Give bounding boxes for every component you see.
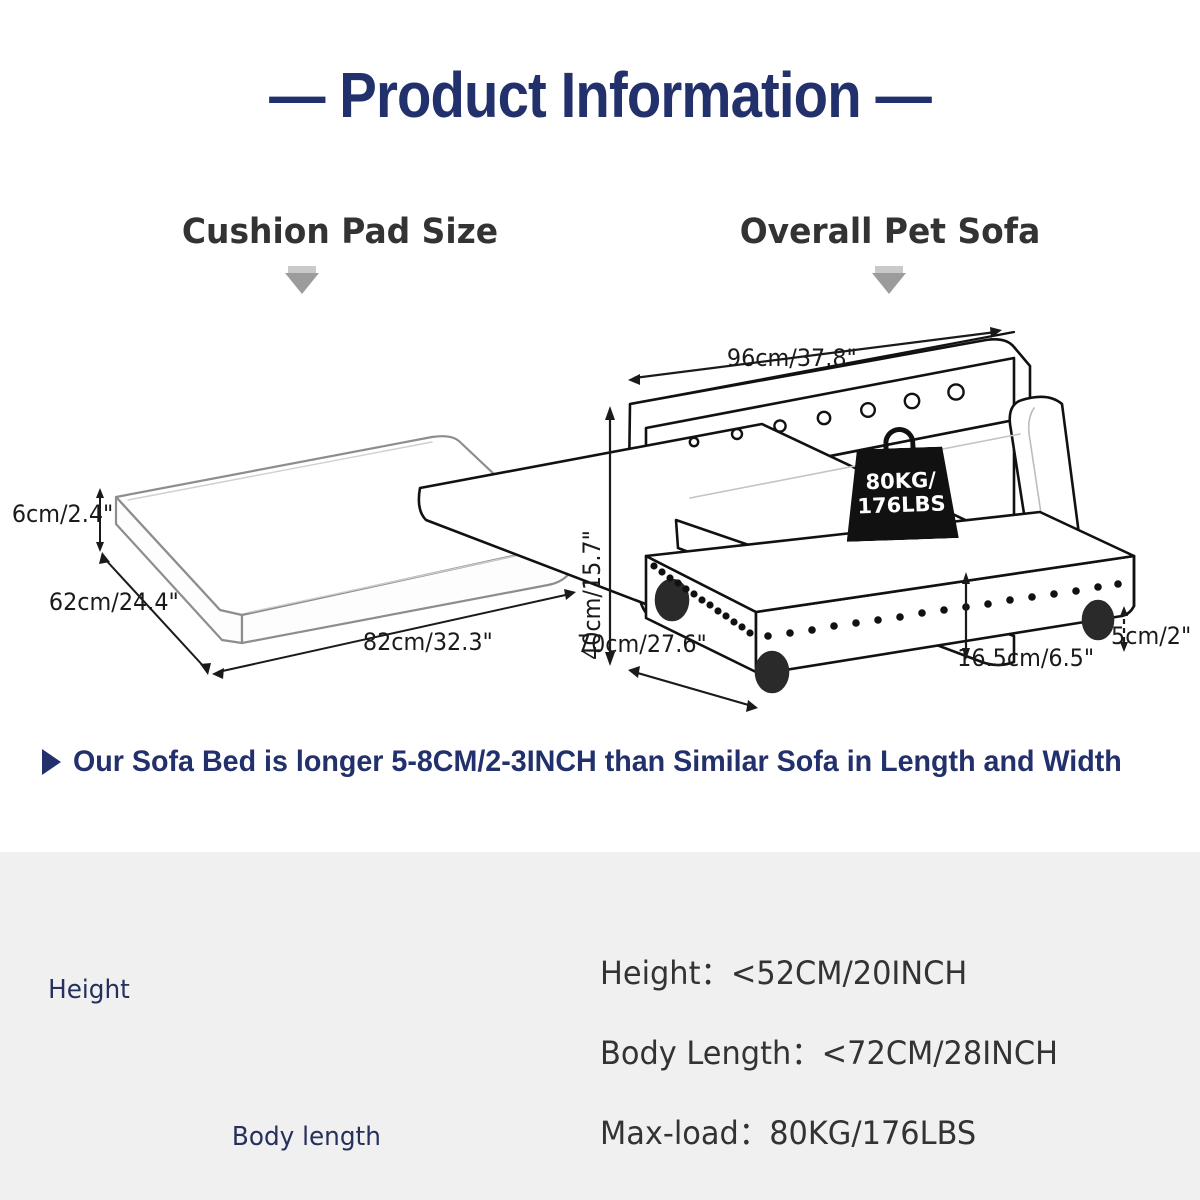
- cushion-depth-label: 62cm/24.4": [49, 588, 179, 616]
- spec-height: Height：<52CM/20INCH: [600, 948, 1132, 994]
- play-triangle-icon: [42, 749, 61, 775]
- pet-sofa-illustration: [419, 332, 1134, 692]
- sofa-width-label: 96cm/37.8": [727, 344, 857, 372]
- sofa-leg-height-label: 5cm/2": [1111, 622, 1191, 650]
- cushion-width-label: 82cm/32.3": [363, 628, 493, 656]
- sofa-base-clearance-label: 16.5cm/6.5": [957, 644, 1094, 672]
- dog-body-length-label: Body length: [232, 1122, 381, 1152]
- page-title: — Product Information —: [72, 58, 1128, 132]
- section-heading-sofa: Overall Pet Sofa: [655, 212, 1125, 252]
- weight-handle: [883, 426, 916, 449]
- chevron-down-icon-cushion: [285, 266, 319, 294]
- pet-spec-list: Height：<52CM/20INCH Body Length：<72CM/28…: [600, 948, 1160, 1188]
- nailhead-studs: [650, 562, 1121, 639]
- weight-line-2: 176LBS: [857, 492, 946, 519]
- section-heading-cushion: Cushion Pad Size: [77, 212, 603, 252]
- cushion-dimension-lines: [96, 488, 576, 679]
- chevron-down-icon-sofa: [872, 266, 906, 294]
- spec-max-load: Max-load：80KG/176LBS: [600, 1108, 1132, 1154]
- backrest-buttons: [690, 384, 964, 446]
- weight-label: 80KG/ 176LBS: [844, 446, 959, 542]
- highlight-banner-text: Our Sofa Bed is longer 5-8CM/2-3INCH tha…: [73, 745, 1122, 779]
- spec-body-length: Body Length：<72CM/28INCH: [600, 1028, 1132, 1074]
- highlight-banner: Our Sofa Bed is longer 5-8CM/2-3INCH tha…: [42, 745, 1182, 779]
- cushion-pad-illustration: [116, 436, 568, 643]
- dog-height-label: Height: [48, 975, 130, 1005]
- sofa-depth-label: 70cm/27.6": [577, 630, 707, 658]
- weight-icon: 80KG/ 176LBS: [843, 438, 958, 542]
- cushion-thickness-label: 6cm/2.4": [12, 500, 114, 528]
